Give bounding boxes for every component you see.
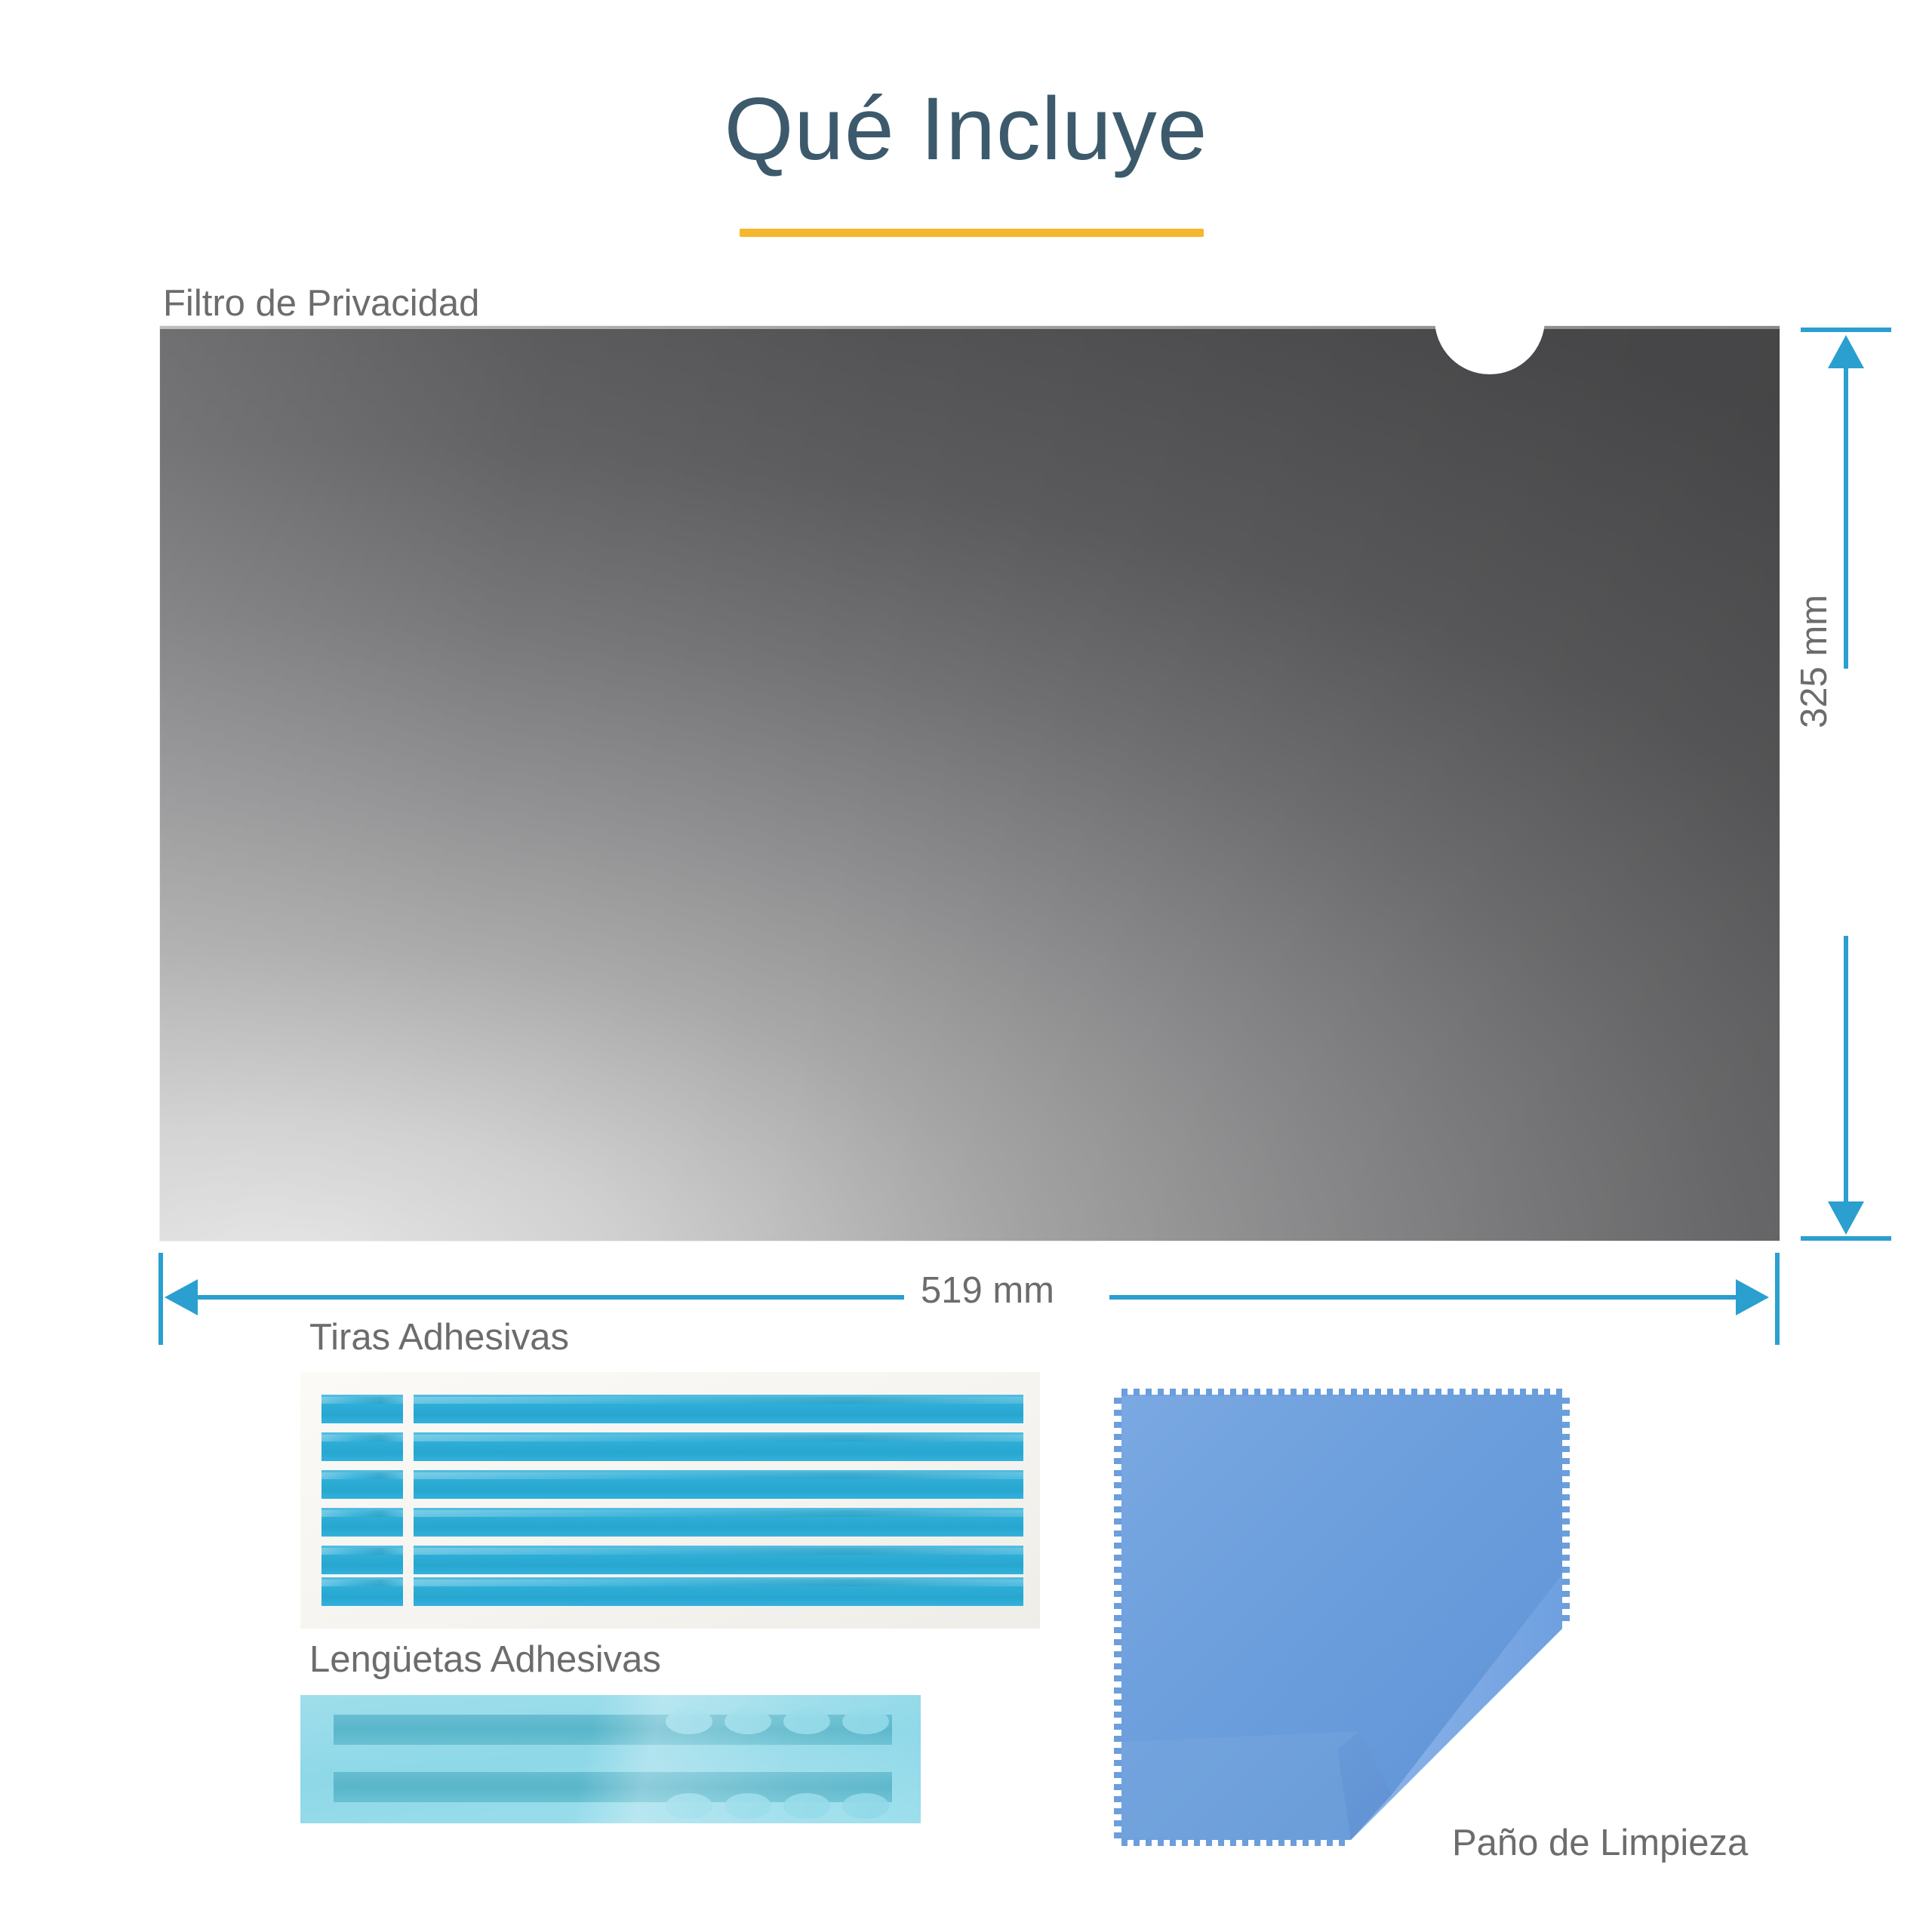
adhesive-tab-band xyxy=(334,1772,892,1802)
privacy-filter-panel xyxy=(160,326,1780,1241)
scallop-notch xyxy=(842,1793,889,1819)
dimension-line-width-right xyxy=(1109,1295,1736,1300)
adhesive-strip-row xyxy=(321,1395,1023,1423)
dimension-arrow-down-icon xyxy=(1828,1201,1864,1235)
dimension-line-height-upper xyxy=(1844,367,1848,669)
adhesive-strip-long xyxy=(414,1395,1023,1423)
adhesive-tabs-sheet xyxy=(300,1695,921,1823)
dimension-width-label: 519 mm xyxy=(904,1272,1071,1309)
adhesive-strip-short xyxy=(321,1577,403,1606)
scallop-notch xyxy=(666,1709,712,1734)
dimension-extension-top xyxy=(1801,328,1891,332)
adhesive-tabs-label: Lengüetas Adhesivas xyxy=(309,1641,661,1678)
adhesive-strip-row xyxy=(321,1432,1023,1461)
adhesive-strip-row xyxy=(321,1577,1023,1606)
cleaning-cloth-svg xyxy=(1111,1387,1684,1855)
adhesive-strip-short xyxy=(321,1432,403,1461)
cloth-pinked-edge-left xyxy=(1114,1398,1121,1838)
cloth-highlight xyxy=(1121,1731,1392,1840)
adhesive-strip-long xyxy=(414,1470,1023,1499)
page-title: Qué Incluye xyxy=(0,83,1932,177)
cleaning-cloth-label: Paño de Limpieza xyxy=(1452,1825,1748,1862)
adhesive-strips-sheet xyxy=(300,1372,1040,1629)
adhesive-strip-row xyxy=(321,1508,1023,1537)
adhesive-strip-short xyxy=(321,1546,403,1574)
scallop-notch xyxy=(724,1709,771,1734)
scallop-notch xyxy=(783,1793,830,1819)
dimension-extension-left xyxy=(158,1253,163,1345)
scallop-notch xyxy=(783,1709,830,1734)
adhesive-strip-row xyxy=(321,1470,1023,1499)
privacy-filter-label: Filtro de Privacidad xyxy=(163,285,479,322)
dimension-extension-right xyxy=(1775,1253,1780,1345)
adhesive-tab-scallops xyxy=(666,1789,892,1819)
dimension-line-height-lower xyxy=(1844,936,1848,1203)
dimension-arrow-right-icon xyxy=(1736,1279,1769,1315)
dimension-extension-bottom xyxy=(1801,1236,1891,1241)
adhesive-tab-scallops xyxy=(666,1715,892,1745)
adhesive-strip-long xyxy=(414,1508,1023,1537)
cloth-pinked-edge-top xyxy=(1121,1389,1562,1396)
scallop-notch xyxy=(842,1709,889,1734)
cloth-pinked-edge-right xyxy=(1562,1398,1570,1621)
adhesive-tab-band xyxy=(334,1715,892,1745)
title-underline-accent xyxy=(740,229,1204,237)
adhesive-strip-long xyxy=(414,1432,1023,1461)
adhesive-strip-row xyxy=(321,1546,1023,1574)
scallop-notch xyxy=(666,1793,712,1819)
adhesive-strip-short xyxy=(321,1395,403,1423)
adhesive-strip-long xyxy=(414,1577,1023,1606)
adhesive-strip-short xyxy=(321,1508,403,1537)
adhesive-strips-label: Tiras Adhesivas xyxy=(309,1319,569,1356)
privacy-filter-surface xyxy=(160,326,1780,1241)
dimension-line-width-left xyxy=(196,1295,904,1300)
scallop-notch xyxy=(724,1793,771,1819)
adhesive-strip-long xyxy=(414,1546,1023,1574)
dimension-arrow-left-icon xyxy=(165,1279,198,1315)
dimension-arrow-up-icon xyxy=(1828,335,1864,368)
adhesive-strip-short xyxy=(321,1470,403,1499)
cleaning-cloth xyxy=(1111,1387,1684,1855)
dimension-height-label: 325 mm xyxy=(1796,595,1833,728)
